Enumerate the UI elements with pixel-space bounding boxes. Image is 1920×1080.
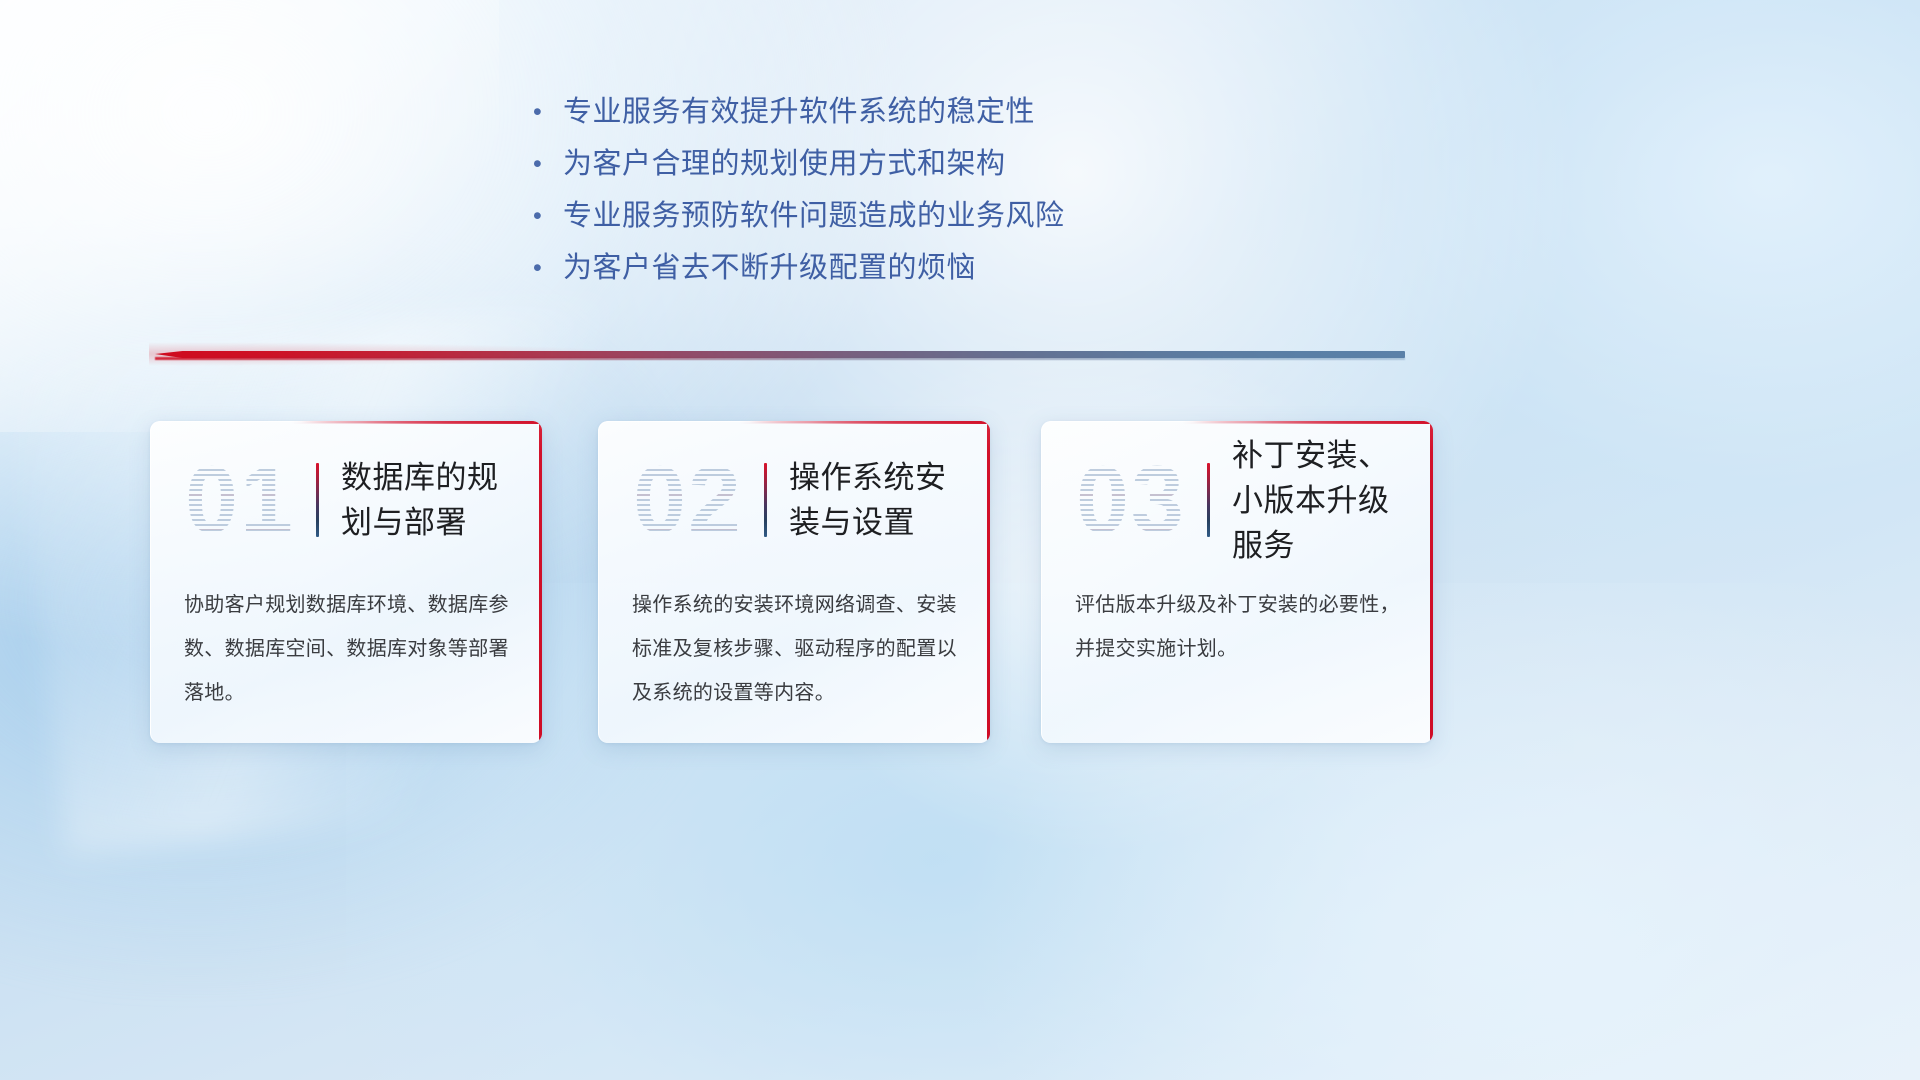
divider-hairline xyxy=(155,357,1405,360)
card-number-watermark: 02 xyxy=(612,444,764,556)
card-top-accent xyxy=(150,421,542,424)
card-title-divider xyxy=(316,463,319,537)
bullet-dot-icon: • xyxy=(533,144,563,184)
card-header: 03 补丁安装、小版本升级服务 xyxy=(1041,437,1433,563)
card-title: 数据库的规划与部署 xyxy=(341,455,542,545)
bullet-dot-icon: • xyxy=(533,248,563,288)
section-divider xyxy=(155,348,1405,362)
service-card-group: 01 数据库的规划与部署 协助客户规划数据库环境、数据库参数、数据库空间、数据库… xyxy=(0,421,1920,743)
bullet-text: 专业服务预防软件问题造成的业务风险 xyxy=(563,196,1065,236)
card-title-divider xyxy=(764,463,767,537)
service-card-03[interactable]: 03 补丁安装、小版本升级服务 评估版本升级及补丁安装的必要性，并提交实施计划。 xyxy=(1041,421,1433,743)
list-item: • 专业服务有效提升软件系统的稳定性 xyxy=(533,92,1393,144)
card-number-watermark: 01 xyxy=(164,444,316,556)
card-header: 02 操作系统安装与设置 xyxy=(598,437,990,563)
card-number-watermark: 03 xyxy=(1055,444,1207,556)
list-item: • 专业服务预防软件问题造成的业务风险 xyxy=(533,196,1393,248)
card-description: 协助客户规划数据库环境、数据库参数、数据库空间、数据库对象等部署落地。 xyxy=(184,583,514,715)
bullet-text: 为客户合理的规划使用方式和架构 xyxy=(563,144,1006,184)
bullet-text: 为客户省去不断升级配置的烦恼 xyxy=(563,248,976,288)
card-description: 评估版本升级及补丁安装的必要性，并提交实施计划。 xyxy=(1075,583,1405,671)
card-title: 补丁安装、小版本升级服务 xyxy=(1232,433,1433,568)
service-card-01[interactable]: 01 数据库的规划与部署 协助客户规划数据库环境、数据库参数、数据库空间、数据库… xyxy=(150,421,542,743)
bullet-dot-icon: • xyxy=(533,196,563,236)
card-header: 01 数据库的规划与部署 xyxy=(150,437,542,563)
list-item: • 为客户省去不断升级配置的烦恼 xyxy=(533,248,1393,300)
service-card-02[interactable]: 02 操作系统安装与设置 操作系统的安装环境网络调查、安装标准及复核步骤、驱动程… xyxy=(598,421,990,743)
card-title-divider xyxy=(1207,463,1210,537)
list-item: • 为客户合理的规划使用方式和架构 xyxy=(533,144,1393,196)
card-title: 操作系统安装与设置 xyxy=(789,455,990,545)
bullet-text: 专业服务有效提升软件系统的稳定性 xyxy=(563,92,1035,132)
card-top-accent xyxy=(598,421,990,424)
card-top-accent xyxy=(1041,421,1433,424)
bullet-dot-icon: • xyxy=(533,92,563,132)
card-description: 操作系统的安装环境网络调查、安装标准及复核步骤、驱动程序的配置以及系统的设置等内… xyxy=(632,583,962,715)
benefits-bullet-list: • 专业服务有效提升软件系统的稳定性 • 为客户合理的规划使用方式和架构 • 专… xyxy=(533,92,1393,300)
